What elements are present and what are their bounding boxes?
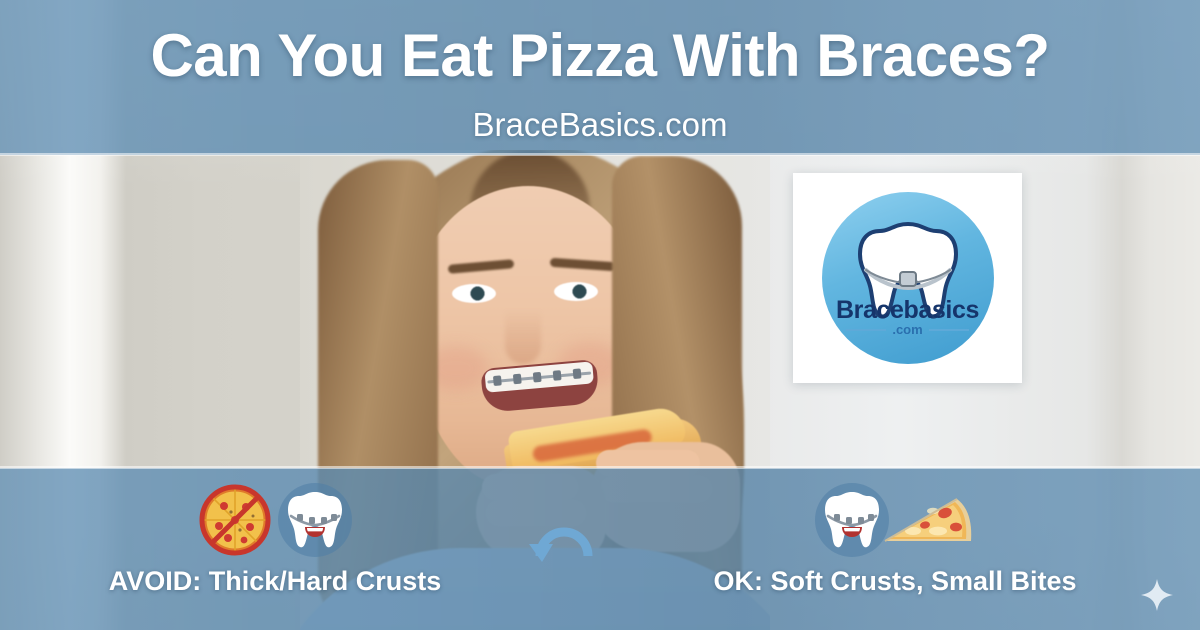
- pizza-slice-icon: [883, 491, 975, 549]
- eye-left: [452, 284, 496, 303]
- poster-canvas: Can You Eat Pizza With Braces? BraceBasi…: [0, 0, 1200, 630]
- nose: [505, 310, 541, 364]
- braces-bracket: [513, 374, 522, 385]
- logo-rule-left: [846, 329, 886, 331]
- braces-bracket: [573, 368, 582, 379]
- tip-ok: OK: Soft Crusts, Small Bites: [660, 480, 1130, 597]
- tip-avoid-label: AVOID: Thick/Hard Crusts: [40, 566, 510, 597]
- tip-ok-label: OK: Soft Crusts, Small Bites: [660, 566, 1130, 597]
- eye-right: [554, 282, 598, 301]
- tip-ok-icons: [660, 480, 1130, 560]
- sparkle-icon: [1140, 578, 1174, 617]
- braces-bracket: [553, 370, 562, 381]
- brand-logo-card[interactable]: Bracebasics .com: [793, 173, 1022, 383]
- logo-tld-row: .com: [822, 322, 994, 337]
- bottom-band-hairline: [0, 466, 1200, 469]
- tip-avoid-icons: [40, 480, 510, 560]
- logo-rule-right: [929, 329, 969, 331]
- tip-avoid: AVOID: Thick/Hard Crusts: [40, 480, 510, 597]
- tooth-with-braces-icon: [278, 483, 352, 557]
- top-band-hairline: [0, 153, 1200, 156]
- braces-bracket: [493, 375, 502, 386]
- tooth-with-braces-icon: [815, 483, 889, 557]
- no-pizza-icon: [198, 483, 272, 557]
- page-title: Can You Eat Pizza With Braces?: [0, 24, 1200, 88]
- logo-circle: Bracebasics .com: [822, 192, 994, 364]
- site-url-subtitle: BraceBasics.com: [0, 106, 1200, 144]
- logo-brand-name: Bracebasics: [822, 296, 994, 325]
- logo-tld: .com: [892, 322, 922, 337]
- braces-bracket: [533, 372, 542, 383]
- rotate-arrow-icon: [527, 512, 601, 583]
